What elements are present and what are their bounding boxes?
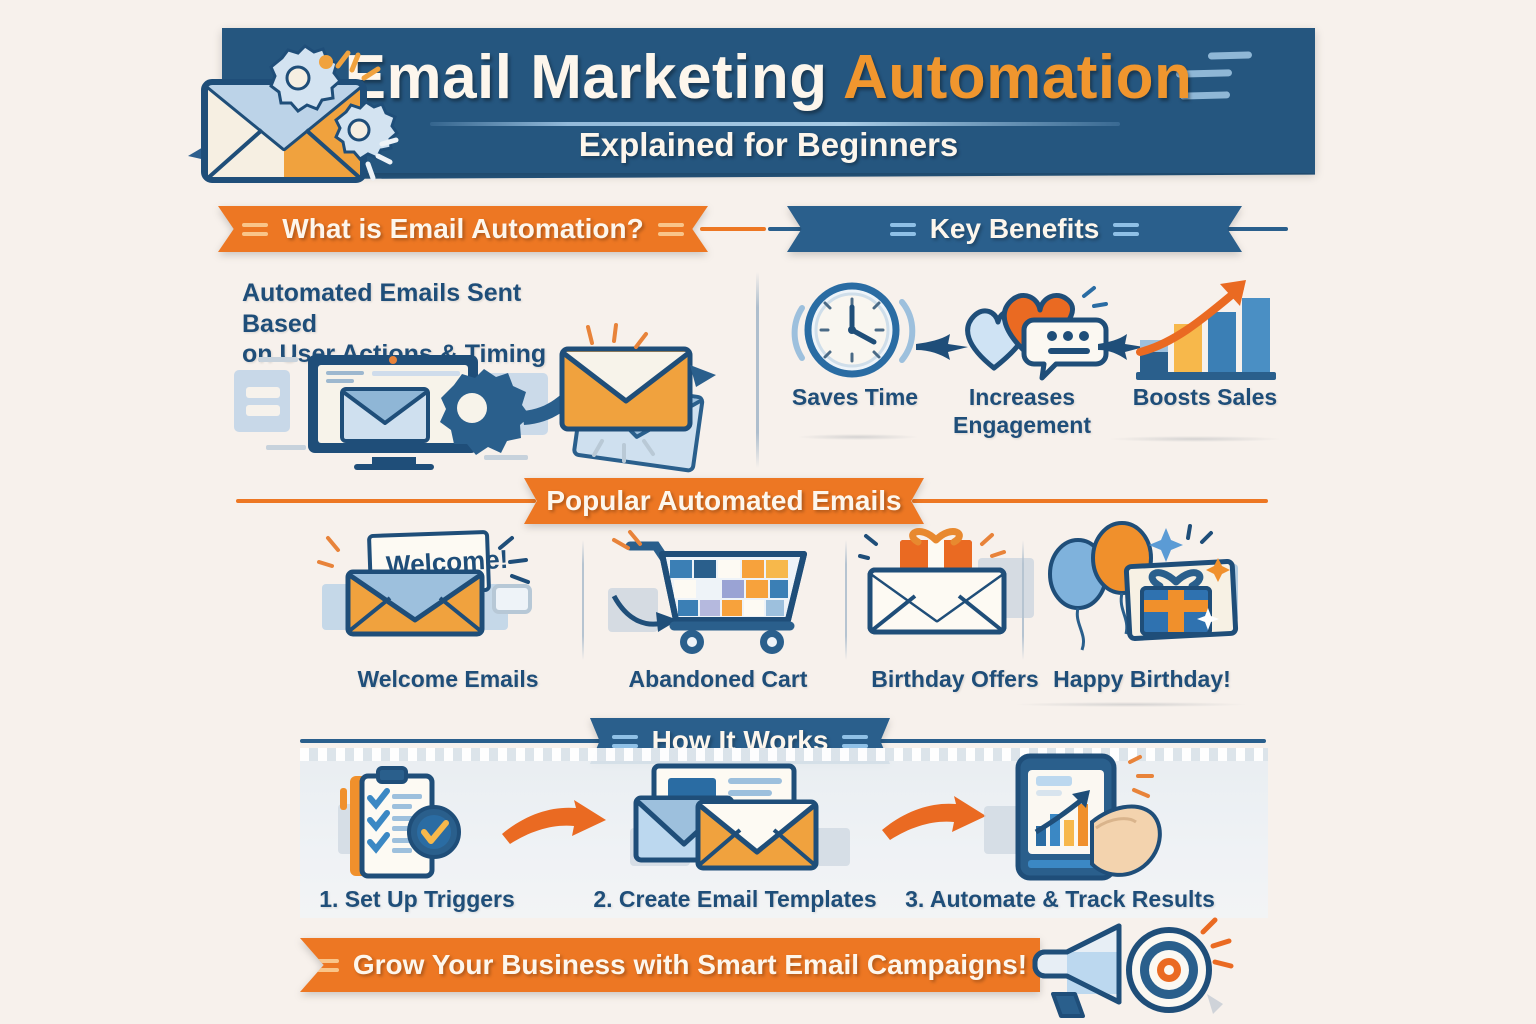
- benefit-caption-saves-time: Saves Time: [780, 384, 930, 412]
- phone-analytics-icon: [984, 756, 1184, 882]
- banner-what-is-email-automation: What is Email Automation?: [218, 206, 708, 252]
- clipboard-checklist-icon: [336, 768, 486, 880]
- ribbon-ticks-left: [313, 959, 339, 972]
- shadow-1: [798, 434, 918, 440]
- clock-icon: [790, 280, 920, 380]
- what-is-illustration: [232, 345, 752, 470]
- shadow-3: [1016, 702, 1246, 707]
- ribbon-ticks-left: [890, 223, 916, 236]
- rule-how-right: [878, 739, 1266, 743]
- step-caption-create-email-templates: 2. Create Email Templates: [590, 886, 880, 914]
- hearts-chat-icon: [956, 282, 1106, 382]
- arrow-right-icon: [880, 796, 990, 842]
- popular-separator-3: [1022, 540, 1024, 660]
- step-caption-set-up-triggers: 1. Set Up Triggers: [312, 886, 522, 914]
- email-template-icon: [630, 764, 850, 882]
- page-title-accent: Automation: [843, 43, 1192, 112]
- benefit-line-2: Engagement: [932, 412, 1112, 440]
- footer-cta-banner: Grow Your Business with Smart Email Camp…: [300, 938, 1040, 992]
- banner-popular-automated-emails: Popular Automated Emails: [524, 478, 924, 524]
- banner-label: Popular Automated Emails: [546, 485, 901, 517]
- popular-caption-welcome-emails: Welcome Emails: [348, 666, 548, 694]
- shadow-2: [1110, 436, 1280, 442]
- benefit-caption-increases-engagement: Increases Engagement: [932, 384, 1112, 439]
- section-divider-vertical: [756, 272, 759, 468]
- benefit-line-1: Increases: [932, 384, 1112, 412]
- rule-popular-right: [912, 499, 1268, 503]
- shopping-cart-icon: [604, 530, 824, 658]
- welcome-envelope-icon: Welcome!: [318, 532, 548, 652]
- banner-label: Key Benefits: [930, 213, 1100, 245]
- gift-envelope-icon: [858, 530, 1048, 650]
- popular-caption-birthday-offers: Birthday Offers: [860, 666, 1050, 694]
- ribbon-ticks-left: [612, 735, 638, 748]
- footer-cta-label: Grow Your Business with Smart Email Camp…: [353, 949, 1027, 981]
- balloons-gift-icon: [1040, 524, 1240, 654]
- what-is-line-1: Automated Emails Sent Based: [242, 278, 572, 339]
- rule-what-right: [700, 227, 766, 231]
- ribbon-ticks-left: [242, 223, 268, 236]
- popular-caption-abandoned-cart: Abandoned Cart: [618, 666, 818, 694]
- banner-key-benefits: Key Benefits: [787, 206, 1242, 252]
- popular-separator-2: [845, 540, 847, 660]
- bar-chart-growth-icon: [1136, 278, 1276, 383]
- infographic-canvas: Email Marketing Automation Explained for…: [0, 0, 1536, 1024]
- megaphone-icon: [1035, 926, 1119, 1016]
- footer-icon-group: [1035, 918, 1235, 1018]
- popular-caption-happy-birthday: Happy Birthday!: [1042, 666, 1242, 694]
- ribbon-ticks-right: [658, 223, 684, 236]
- ribbon-ticks-right: [1113, 223, 1139, 236]
- page-title-primary: Email Marketing: [345, 43, 843, 112]
- envelope-gears-icon: [186, 38, 416, 188]
- step-caption-automate-track-results: 3. Automate & Track Results: [900, 886, 1220, 914]
- ribbon-ticks-right: [842, 735, 868, 748]
- popular-separator-1: [582, 540, 584, 660]
- banner-label: What is Email Automation?: [282, 213, 643, 245]
- rule-popular-left: [236, 499, 536, 503]
- target-icon: [1129, 930, 1209, 1010]
- rule-how-left: [300, 739, 602, 743]
- arrow-right-icon: [500, 800, 610, 846]
- benefit-caption-boosts-sales: Boosts Sales: [1120, 384, 1290, 412]
